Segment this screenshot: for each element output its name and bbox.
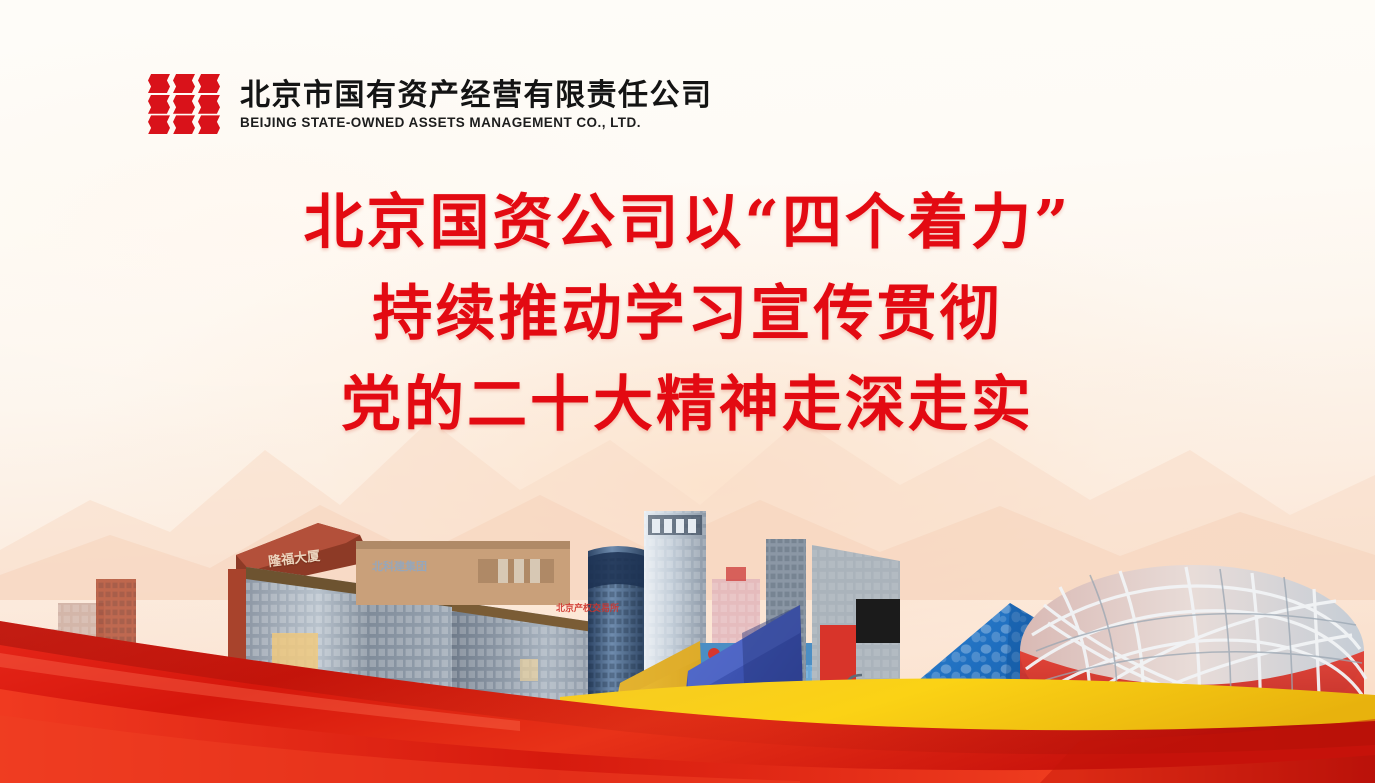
company-logo: 北京市国有资产经营有限责任公司 BEIJING STATE-OWNED ASSE… [148, 74, 713, 136]
logo-mark-icon [148, 74, 220, 136]
company-name-en: BEIJING STATE-OWNED ASSETS MANAGEMENT CO… [240, 115, 713, 130]
banner-root: 北京市国有资产经营有限责任公司 BEIJING STATE-OWNED ASSE… [0, 0, 1375, 783]
logo-text-block: 北京市国有资产经营有限责任公司 BEIJING STATE-OWNED ASSE… [240, 80, 713, 131]
headline-line-1: 北京国资公司以“四个着力” [0, 178, 1375, 269]
headline-line-2: 持续推动学习宣传贯彻 [0, 269, 1375, 360]
cityscape-illustration [0, 483, 1375, 783]
page-title: 北京国资公司以“四个着力” 持续推动学习宣传贯彻 党的二十大精神走深走实 [0, 178, 1375, 451]
company-name-cn: 北京市国有资产经营有限责任公司 [240, 80, 713, 112]
headline-line-3: 党的二十大精神走深走实 [0, 360, 1375, 451]
